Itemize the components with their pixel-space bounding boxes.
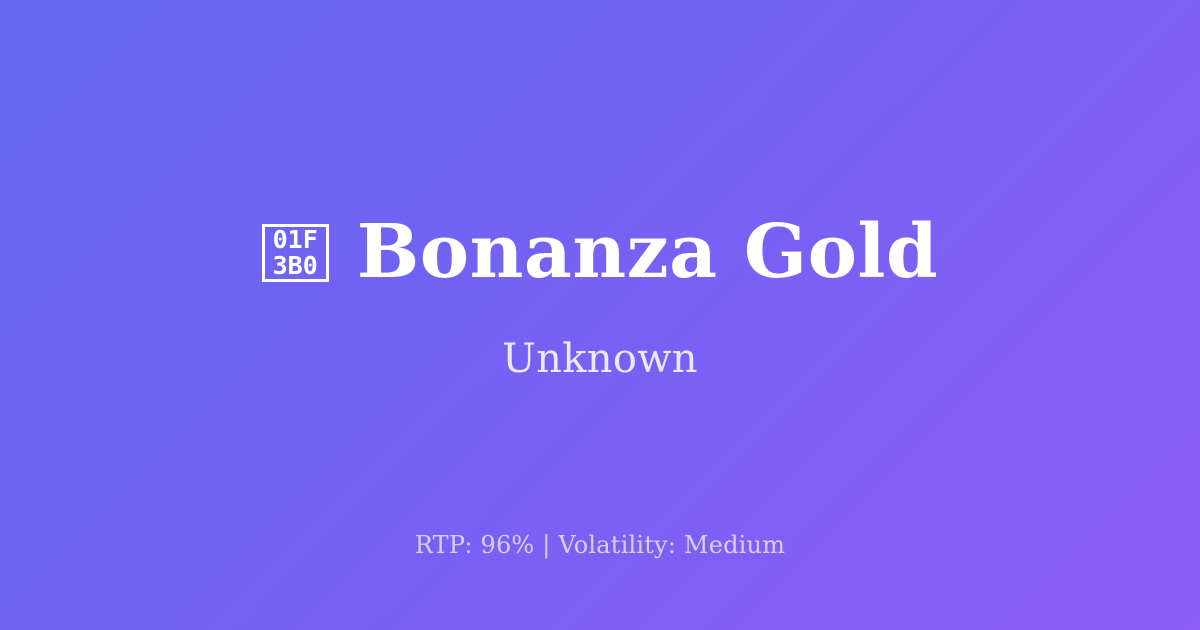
game-title: Bonanza Gold bbox=[357, 215, 939, 290]
title-row: 01F 3B0 Bonanza Gold bbox=[262, 215, 939, 290]
game-og-card: 01F 3B0 Bonanza Gold Unknown RTP: 96% | … bbox=[0, 0, 1200, 630]
tofu-codepoint-top: 01F bbox=[273, 227, 318, 253]
game-stats-line: RTP: 96% | Volatility: Medium bbox=[0, 531, 1200, 560]
tofu-codepoint-bottom: 3B0 bbox=[273, 253, 318, 279]
game-provider-subtitle: Unknown bbox=[502, 337, 698, 381]
slot-machine-emoji-tofu-box-icon: 01F 3B0 bbox=[262, 224, 329, 282]
